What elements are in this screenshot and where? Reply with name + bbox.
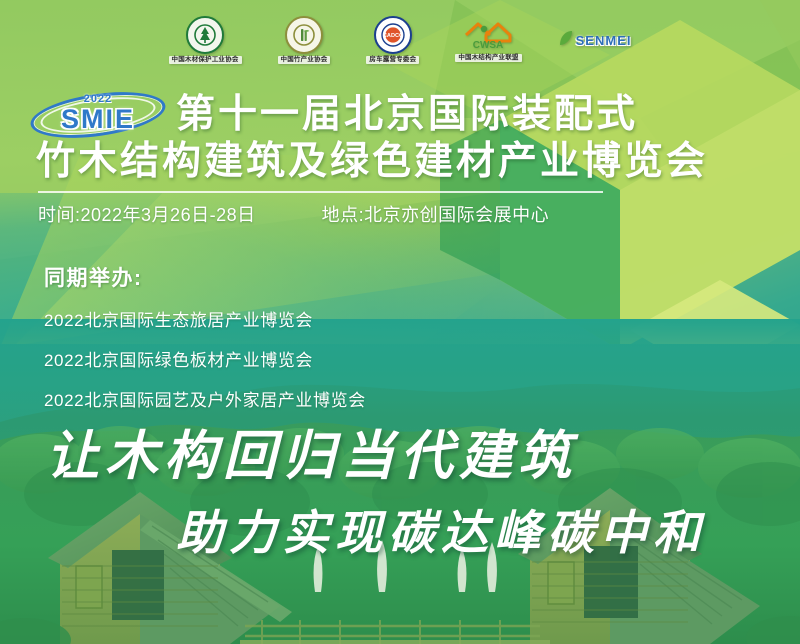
bamboo-in-circle-icon (285, 16, 323, 54)
sponsor-logo-bamboo-association: 中国竹产业协会 (278, 16, 331, 65)
sponsor-logo-senmei: SENMEI (558, 23, 632, 57)
concurrent-event-item: 2022北京国际园艺及户外家居产业博览会 (44, 386, 366, 411)
concurrent-events-block: 同期举办: 2022北京国际生态旅居产业博览会 2022北京国际绿色板材产业博览… (44, 262, 366, 426)
slogan-line-2: 助力实现碳达峰碳中和 (0, 494, 800, 563)
title-block: 2022 SMIE 第十一届北京国际装配式 竹木结构建筑及绿色建材产业博览会 (0, 92, 800, 184)
event-venue: 地点:北京亦创国际会展中心 (322, 201, 550, 227)
pine-tree-in-circle-icon (186, 16, 224, 54)
concurrent-event-item: 2022北京国际绿色板材产业博览会 (44, 346, 366, 371)
title-line-2: 竹木结构建筑及绿色建材产业博览会 (36, 140, 800, 184)
cwsa-house-icon: CWSA (462, 18, 514, 52)
sponsor-logo-cadcc: CADCC 房车露营专委会 (366, 16, 419, 65)
concurrent-event-item: 2022北京国际生态旅居产业博览会 (44, 306, 366, 331)
title-divider (38, 191, 603, 193)
sponsor-logo-caption: 中国竹产业协会 (278, 56, 331, 65)
sponsor-logo-caption: 房车露营专委会 (366, 56, 419, 65)
senmei-wordmark: SENMEI (576, 33, 632, 48)
event-meta-row: 时间:2022年3月26日-28日 地点:北京亦创国际会展中心 (38, 201, 778, 227)
smie-emblem: 2022 SMIE (30, 92, 166, 138)
title-line-1: 第十一届北京国际装配式 (176, 93, 638, 137)
title-row-primary: 2022 SMIE 第十一届北京国际装配式 (0, 92, 800, 138)
sponsor-logo-caption: 中国木材保护工业协会 (169, 56, 242, 65)
sponsor-logo-caption: 中国木结构产业联盟 (455, 54, 521, 63)
slogan-block: 让木构回归当代建筑 助力实现碳达峰碳中和 (0, 414, 800, 563)
title-row-secondary: 竹木结构建筑及绿色建材产业博览会 (0, 140, 800, 184)
sponsor-logo-china-wood-protection: 中国木材保护工业协会 (169, 16, 242, 65)
slogan-line-1: 让木构回归当代建筑 (0, 414, 800, 490)
sponsor-logo-strip: 中国木材保护工业协会 中国竹产业协会 (0, 8, 800, 72)
event-date: 时间:2022年3月26日-28日 (38, 201, 256, 227)
concurrent-events-heading: 同期举办: (44, 262, 366, 292)
svg-text:CWSA: CWSA (473, 40, 504, 51)
svg-text:CADCC: CADCC (383, 33, 403, 39)
poster-content: 中国木材保护工业协会 中国竹产业协会 (0, 0, 800, 644)
sponsor-logo-cwsa: CWSA 中国木结构产业联盟 (455, 18, 521, 63)
smie-wordmark: SMIE (30, 104, 166, 135)
leaf-icon (558, 29, 574, 52)
exhibition-poster: 中国木材保护工业协会 中国竹产业协会 (0, 0, 800, 644)
cadcc-badge-icon: CADCC (374, 16, 412, 54)
